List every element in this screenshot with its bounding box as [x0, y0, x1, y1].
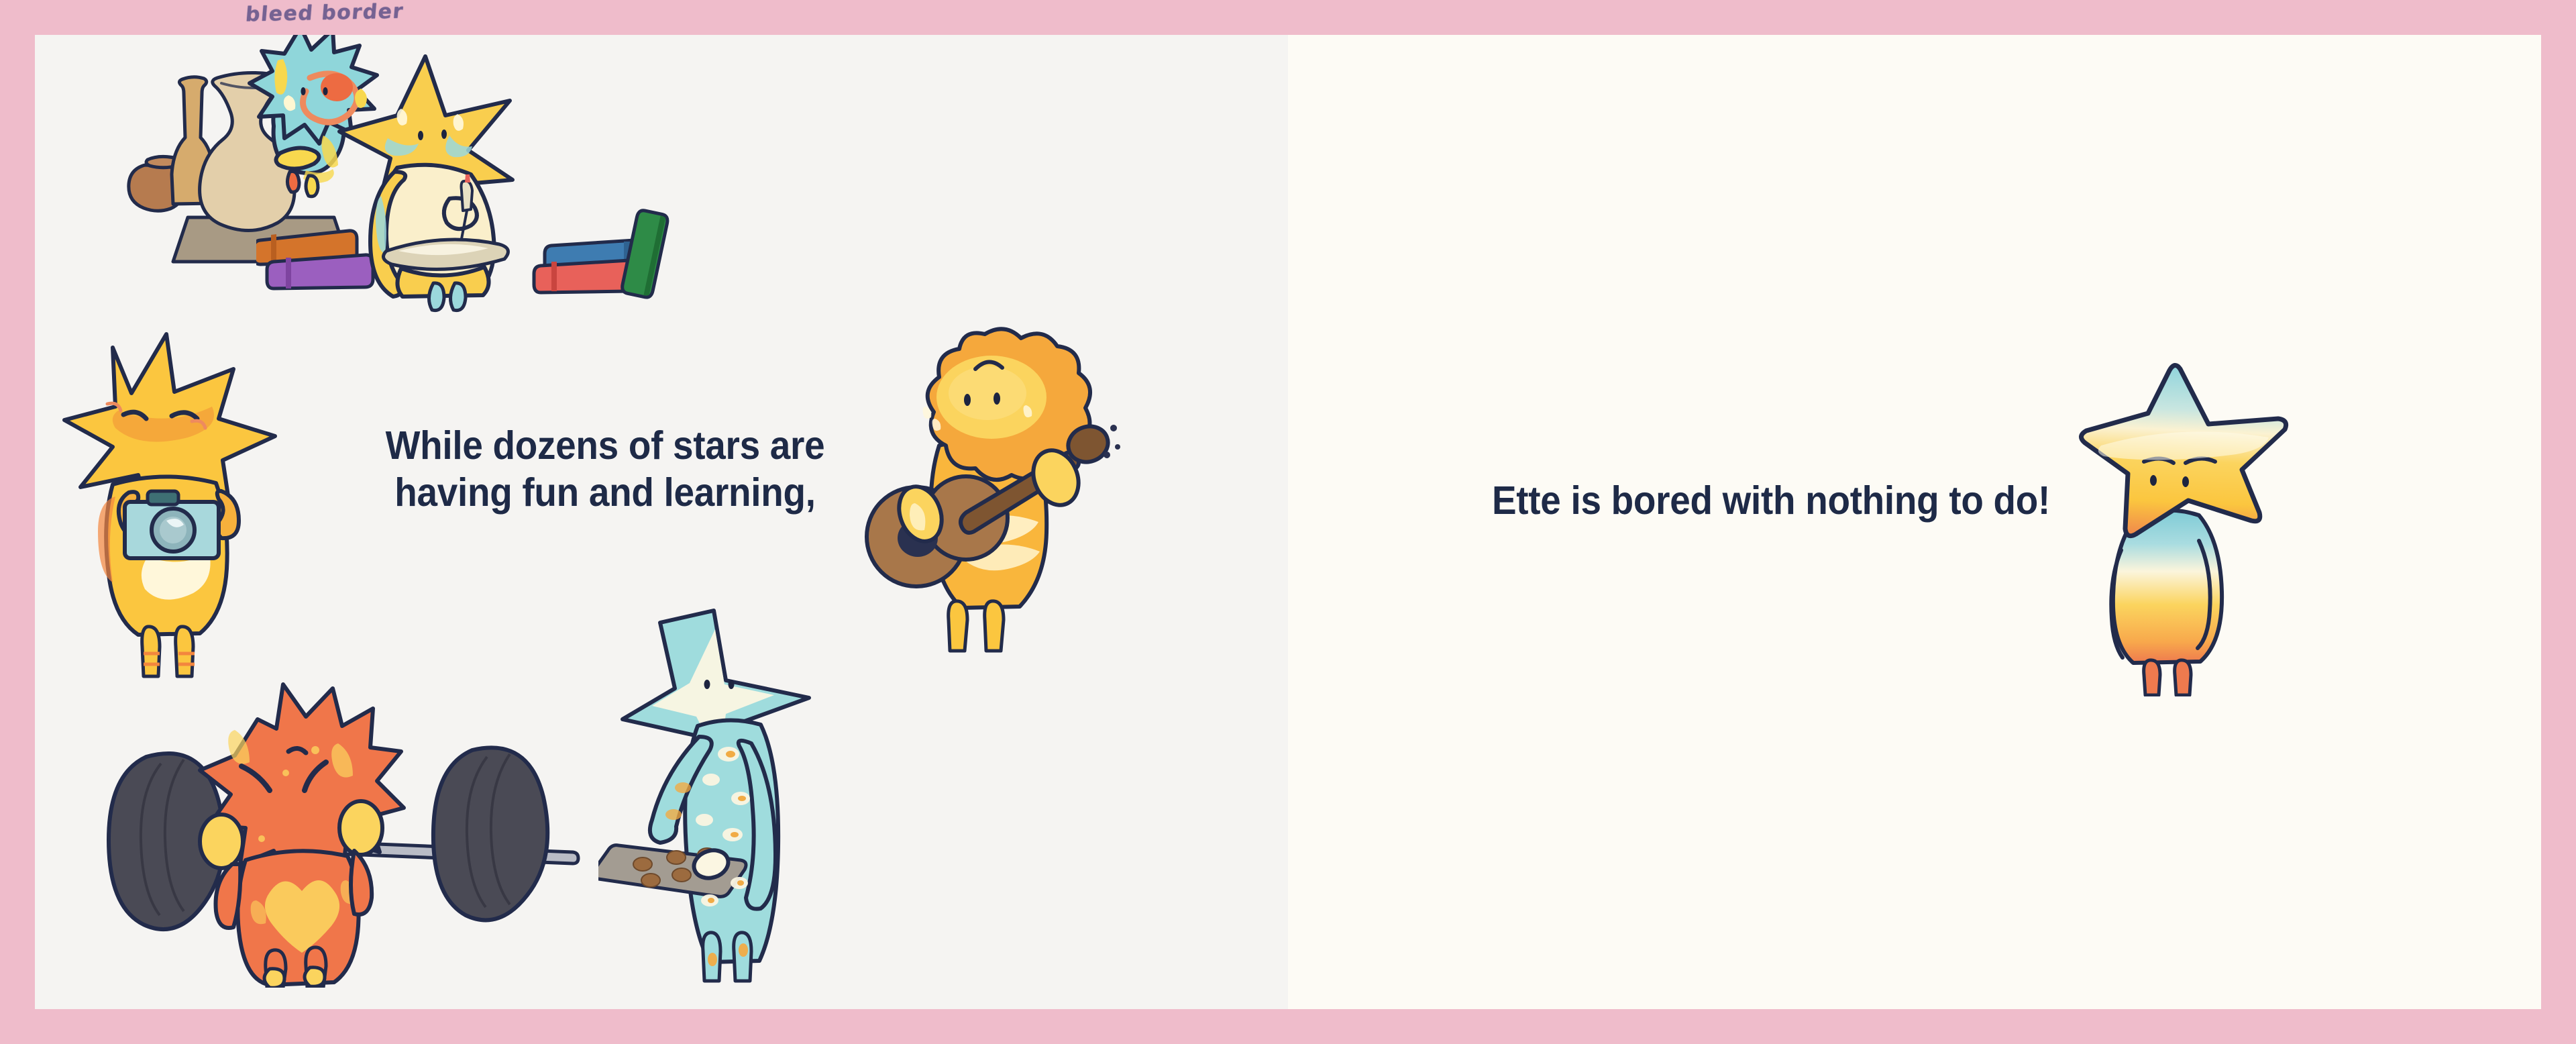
left-page-story-text: While dozens of stars are having fun and… — [368, 423, 843, 516]
guitarist-star-illustration — [853, 323, 1148, 659]
right-page: Ette is bored with nothing to do! — [1288, 35, 2541, 1009]
photographer-star-illustration — [54, 323, 295, 679]
ette-star-illustration — [2074, 361, 2302, 696]
left-page: While dozens of stars are having fun and… — [35, 35, 1288, 1009]
bleed-border-canvas: bleed border — [0, 0, 2576, 1044]
weightlifter-star-illustration — [76, 679, 613, 988]
book-spread: While dozens of stars are having fun and… — [35, 35, 2541, 1009]
bleed-border-annotation: bleed border — [245, 0, 405, 27]
reading-star-illustration — [256, 47, 672, 315]
baker-star-illustration — [598, 598, 880, 1001]
right-page-story-text: Ette is bored with nothing to do! — [1403, 478, 2139, 525]
